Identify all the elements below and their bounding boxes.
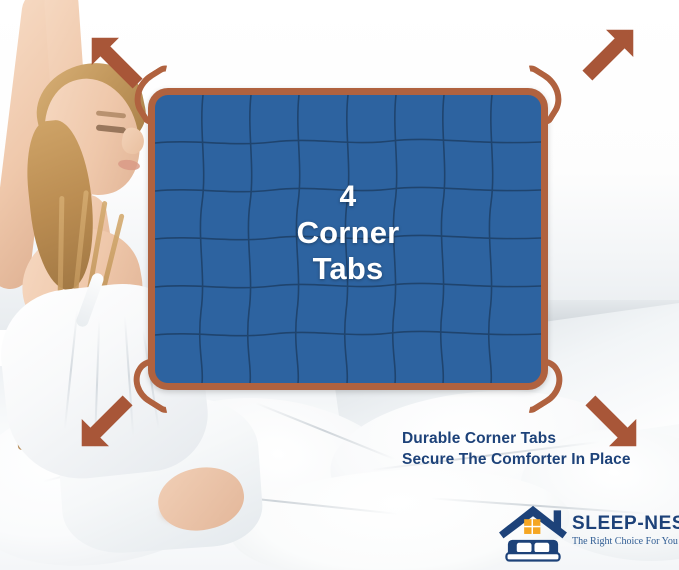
logo-name: SLEEP-NEST — [572, 514, 676, 534]
arrow-top-right-icon — [575, 26, 637, 88]
comforter-illustration: 4 Corner Tabs — [148, 88, 548, 390]
logo-tagline: The Right Choice For You — [572, 535, 676, 548]
arrow-top-left-icon — [88, 34, 150, 96]
feature-caption: Durable Corner Tabs Secure The Comforter… — [402, 428, 631, 470]
caption-line-1: Durable Corner Tabs — [402, 428, 631, 449]
product-feature-image: 4 Corner Tabs Durable Corner Tabs Secure… — [0, 0, 679, 570]
logo-name-part1: SLEEP — [572, 513, 637, 534]
caption-line-2: Secure The Comforter In Place — [402, 449, 631, 470]
quilt-stitch-grid — [155, 95, 541, 383]
house-with-bed-icon — [496, 500, 570, 562]
blue-quilted-comforter: 4 Corner Tabs — [148, 88, 548, 390]
brand-logo: SLEEP-NEST The Right Choice For You — [496, 500, 674, 562]
logo-wordmark: SLEEP-NEST The Right Choice For You — [572, 514, 676, 548]
logo-name-part2: NEST — [644, 513, 679, 534]
arrow-bottom-left-icon — [78, 388, 140, 450]
